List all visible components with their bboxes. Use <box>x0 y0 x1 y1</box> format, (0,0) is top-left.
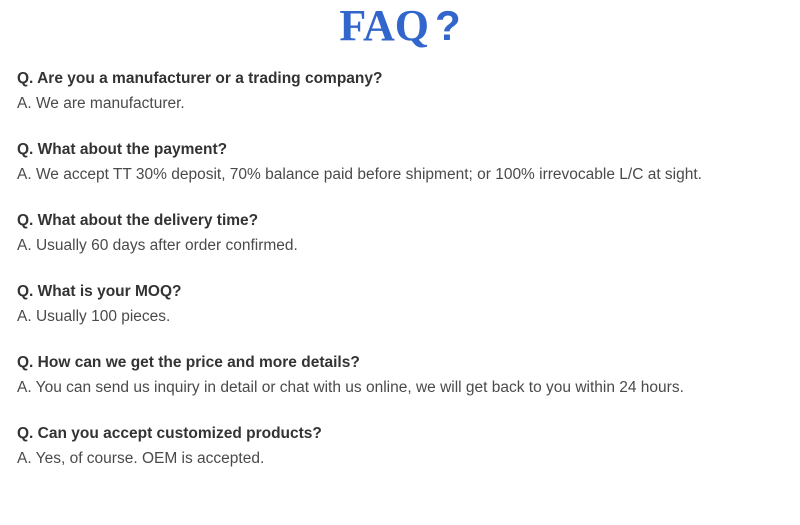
faq-question: Q. What about the payment? <box>17 137 789 162</box>
faq-answer: A. Usually 60 days after order confirmed… <box>17 233 789 258</box>
faq-answer: A. We accept TT 30% deposit, 70% balance… <box>17 162 789 187</box>
faq-item: Q. Are you a manufacturer or a trading c… <box>17 66 789 116</box>
faq-item: Q. What about the delivery time? A. Usua… <box>17 208 789 258</box>
faq-item: Q. What is your MOQ? A. Usually 100 piec… <box>17 279 789 329</box>
faq-question: Q. How can we get the price and more det… <box>17 350 789 375</box>
faq-question: Q. What is your MOQ? <box>17 279 789 304</box>
faq-answer: A. Yes, of course. OEM is accepted. <box>17 446 789 471</box>
question-mark-icon: ? <box>435 2 461 49</box>
page-title-text: FAQ <box>339 1 429 50</box>
faq-answer: A. You can send us inquiry in detail or … <box>17 375 789 400</box>
faq-list: Q. Are you a manufacturer or a trading c… <box>17 66 789 471</box>
faq-question: Q. Can you accept customized products? <box>17 421 789 446</box>
faq-answer: A. We are manufacturer. <box>17 91 789 116</box>
faq-item: Q. Can you accept customized products? A… <box>17 421 789 471</box>
faq-question: Q. Are you a manufacturer or a trading c… <box>17 66 789 91</box>
faq-item: Q. What about the payment? A. We accept … <box>17 137 789 187</box>
page-title: FAQ? <box>0 2 800 50</box>
faq-item: Q. How can we get the price and more det… <box>17 350 789 400</box>
faq-answer: A. Usually 100 pieces. <box>17 304 789 329</box>
faq-question: Q. What about the delivery time? <box>17 208 789 233</box>
faq-page: FAQ? Q. Are you a manufacturer or a trad… <box>0 0 800 525</box>
